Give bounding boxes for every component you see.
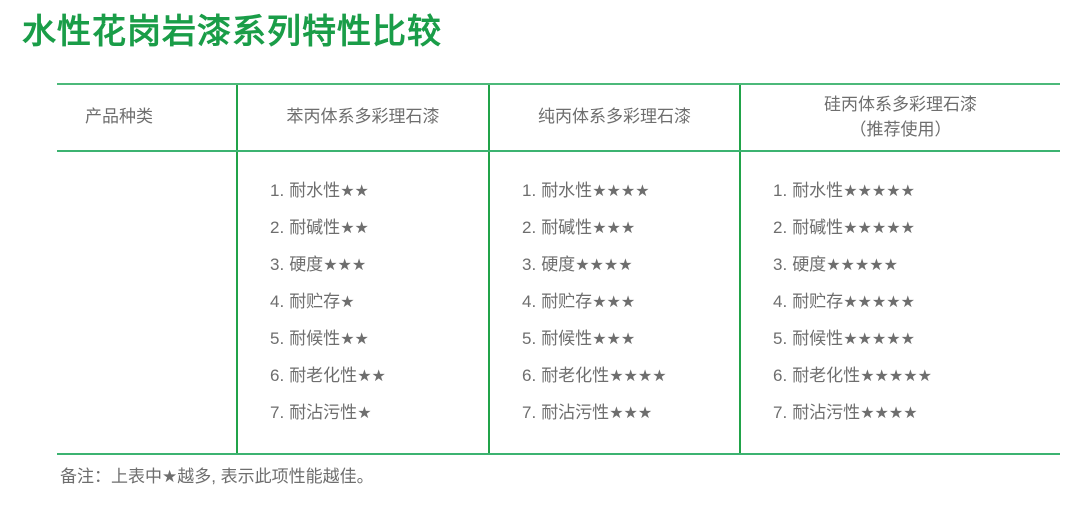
table-header: 产品种类 苯丙体系多彩理石漆 纯丙体系多彩理石漆 硅丙体系多彩理石漆 （推荐使用… bbox=[57, 84, 1060, 151]
spec-name: 耐老化性 bbox=[289, 366, 357, 385]
cell-chunbing-specs: 1.耐水性★★★★ 2.耐碱性★★★ 3.硬度★★★★ 4.耐贮存★★★ 5.耐… bbox=[489, 151, 740, 454]
spec-index: 2. bbox=[773, 218, 787, 237]
list-item: 1.耐水性★★★★ bbox=[522, 172, 729, 209]
table-header-row: 产品种类 苯丙体系多彩理石漆 纯丙体系多彩理石漆 硅丙体系多彩理石漆 （推荐使用… bbox=[57, 84, 1060, 151]
spec-index: 1. bbox=[773, 181, 787, 200]
cell-benbing-specs: 1.耐水性★★ 2.耐碱性★★ 3.硬度★★★ 4.耐贮存★ 5.耐候性★★ 6… bbox=[237, 151, 489, 454]
spec-stars: ★★★ bbox=[592, 218, 635, 237]
column-header-guibing: 硅丙体系多彩理石漆 （推荐使用） bbox=[740, 84, 1060, 151]
list-item: 5.耐候性★★ bbox=[270, 320, 478, 357]
spec-list-chunbing: 1.耐水性★★★★ 2.耐碱性★★★ 3.硬度★★★★ 4.耐贮存★★★ 5.耐… bbox=[500, 172, 729, 431]
spec-index: 1. bbox=[522, 181, 536, 200]
spec-index: 2. bbox=[522, 218, 536, 237]
spec-name: 硬度 bbox=[289, 255, 323, 274]
spec-name: 耐沾污性 bbox=[541, 403, 609, 422]
table-note: 备注：上表中★越多, 表示此项性能越佳。 bbox=[60, 462, 374, 487]
spec-stars: ★★★ bbox=[592, 329, 635, 348]
column-header-sublabel: （推荐使用） bbox=[850, 120, 952, 139]
spec-stars: ★★★★ bbox=[860, 403, 917, 422]
spec-name: 耐沾污性 bbox=[792, 403, 860, 422]
spec-name: 耐候性 bbox=[289, 329, 340, 348]
list-item: 6.耐老化性★★ bbox=[270, 357, 478, 394]
list-item: 4.耐贮存★★★★★ bbox=[773, 283, 1050, 320]
spec-stars: ★★★★ bbox=[609, 366, 666, 385]
column-header-benbing: 苯丙体系多彩理石漆 bbox=[237, 84, 489, 151]
spec-index: 5. bbox=[270, 329, 284, 348]
spec-index: 6. bbox=[522, 366, 536, 385]
list-item: 5.耐候性★★★ bbox=[522, 320, 729, 357]
spec-index: 3. bbox=[522, 255, 536, 274]
spec-stars: ★★★ bbox=[609, 403, 652, 422]
list-item: 3.硬度★★★ bbox=[270, 246, 478, 283]
spec-index: 2. bbox=[270, 218, 284, 237]
spec-stars: ★★★★★ bbox=[843, 329, 915, 348]
list-item: 6.耐老化性★★★★ bbox=[522, 357, 729, 394]
spec-name: 耐碱性 bbox=[289, 218, 340, 237]
spec-stars: ★★ bbox=[340, 218, 369, 237]
spec-name: 耐老化性 bbox=[541, 366, 609, 385]
spec-name: 耐贮存 bbox=[541, 292, 592, 311]
column-header-label: 纯丙体系多彩理石漆 bbox=[538, 107, 691, 126]
spec-name: 耐水性 bbox=[541, 181, 592, 200]
spec-stars: ★★★ bbox=[323, 255, 366, 274]
spec-stars: ★★★ bbox=[592, 292, 635, 311]
column-header-label: 硅丙体系多彩理石漆 bbox=[824, 95, 977, 114]
column-header-label: 产品种类 bbox=[85, 107, 153, 126]
spec-index: 5. bbox=[522, 329, 536, 348]
list-item: 4.耐贮存★ bbox=[270, 283, 478, 320]
spec-stars: ★★★★★ bbox=[860, 366, 932, 385]
spec-name: 耐贮存 bbox=[289, 292, 340, 311]
spec-name: 耐水性 bbox=[289, 181, 340, 200]
spec-index: 7. bbox=[522, 403, 536, 422]
cell-product-kind-empty bbox=[57, 151, 237, 454]
list-item: 1.耐水性★★★★★ bbox=[773, 172, 1050, 209]
cell-guibing-specs: 1.耐水性★★★★★ 2.耐碱性★★★★★ 3.硬度★★★★★ 4.耐贮存★★★… bbox=[740, 151, 1060, 454]
spec-stars: ★★★★★ bbox=[843, 181, 915, 200]
spec-index: 4. bbox=[522, 292, 536, 311]
list-item: 7.耐沾污性★★★★ bbox=[773, 394, 1050, 431]
table-body: 1.耐水性★★ 2.耐碱性★★ 3.硬度★★★ 4.耐贮存★ 5.耐候性★★ 6… bbox=[57, 151, 1060, 454]
spec-index: 5. bbox=[773, 329, 787, 348]
spec-index: 4. bbox=[270, 292, 284, 311]
spec-index: 6. bbox=[773, 366, 787, 385]
spec-name: 耐候性 bbox=[541, 329, 592, 348]
spec-index: 3. bbox=[773, 255, 787, 274]
column-header-label: 苯丙体系多彩理石漆 bbox=[287, 107, 440, 126]
spec-index: 7. bbox=[773, 403, 787, 422]
spec-stars: ★★★★★ bbox=[843, 218, 915, 237]
list-item: 7.耐沾污性★ bbox=[270, 394, 478, 431]
spec-index: 4. bbox=[773, 292, 787, 311]
spec-name: 耐碱性 bbox=[792, 218, 843, 237]
spec-stars: ★★★★★ bbox=[843, 292, 915, 311]
list-item: 6.耐老化性★★★★★ bbox=[773, 357, 1050, 394]
spec-name: 耐沾污性 bbox=[289, 403, 357, 422]
spec-stars: ★★ bbox=[340, 329, 369, 348]
spec-index: 6. bbox=[270, 366, 284, 385]
spec-name: 耐候性 bbox=[792, 329, 843, 348]
list-item: 3.硬度★★★★ bbox=[522, 246, 729, 283]
table-row: 1.耐水性★★ 2.耐碱性★★ 3.硬度★★★ 4.耐贮存★ 5.耐候性★★ 6… bbox=[57, 151, 1060, 454]
list-item: 2.耐碱性★★★★★ bbox=[773, 209, 1050, 246]
spec-list-guibing: 1.耐水性★★★★★ 2.耐碱性★★★★★ 3.硬度★★★★★ 4.耐贮存★★★… bbox=[751, 172, 1050, 431]
column-header-chunbing: 纯丙体系多彩理石漆 bbox=[489, 84, 740, 151]
spec-name: 硬度 bbox=[541, 255, 575, 274]
column-header-product-kind: 产品种类 bbox=[57, 84, 237, 151]
spec-index: 3. bbox=[270, 255, 284, 274]
spec-index: 7. bbox=[270, 403, 284, 422]
list-item: 2.耐碱性★★★ bbox=[522, 209, 729, 246]
page-title: 水性花岗岩漆系列特性比较 bbox=[22, 14, 442, 51]
list-item: 7.耐沾污性★★★ bbox=[522, 394, 729, 431]
spec-stars: ★★ bbox=[357, 366, 386, 385]
list-item: 5.耐候性★★★★★ bbox=[773, 320, 1050, 357]
list-item: 4.耐贮存★★★ bbox=[522, 283, 729, 320]
comparison-table: 产品种类 苯丙体系多彩理石漆 纯丙体系多彩理石漆 硅丙体系多彩理石漆 （推荐使用… bbox=[57, 83, 1060, 455]
spec-name: 耐碱性 bbox=[541, 218, 592, 237]
spec-name: 耐贮存 bbox=[792, 292, 843, 311]
spec-name: 耐老化性 bbox=[792, 366, 860, 385]
spec-stars: ★★★★ bbox=[592, 181, 649, 200]
spec-stars: ★ bbox=[340, 292, 354, 311]
spec-stars: ★★ bbox=[340, 181, 369, 200]
spec-index: 1. bbox=[270, 181, 284, 200]
spec-name: 硬度 bbox=[792, 255, 826, 274]
list-item: 1.耐水性★★ bbox=[270, 172, 478, 209]
list-item: 2.耐碱性★★ bbox=[270, 209, 478, 246]
spec-list-benbing: 1.耐水性★★ 2.耐碱性★★ 3.硬度★★★ 4.耐贮存★ 5.耐候性★★ 6… bbox=[248, 172, 478, 431]
spec-stars: ★★★★★ bbox=[826, 255, 898, 274]
spec-stars: ★ bbox=[357, 403, 371, 422]
spec-name: 耐水性 bbox=[792, 181, 843, 200]
spec-stars: ★★★★ bbox=[575, 255, 632, 274]
list-item: 3.硬度★★★★★ bbox=[773, 246, 1050, 283]
